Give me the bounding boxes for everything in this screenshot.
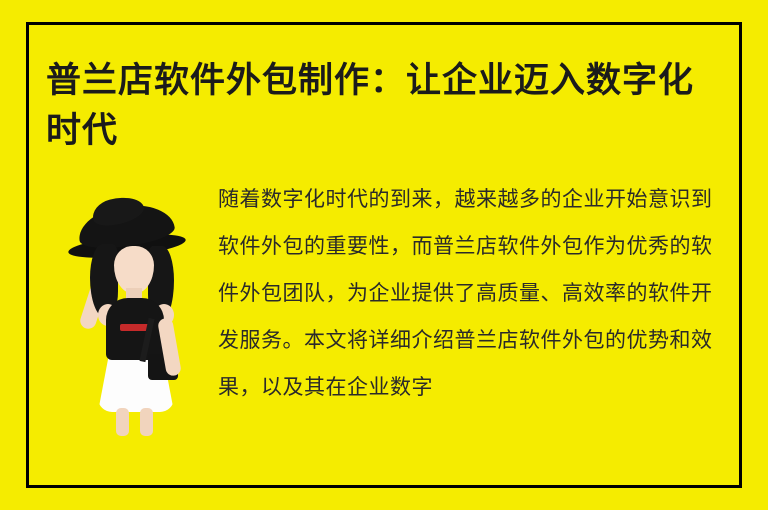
page-title: 普兰店软件外包制作：让企业迈入数字化时代	[46, 56, 726, 156]
illustration-leg-right	[140, 408, 153, 436]
poster-page: 普兰店软件外包制作：让企业迈入数字化时代 随着数字化时代的到来，越来越多的企业开…	[0, 0, 768, 510]
article-body: 随着数字化时代的到来，越来越多的企业开始意识到软件外包的重要性，而普兰店软件外包…	[218, 176, 726, 411]
fashion-girl-illustration	[62, 206, 222, 436]
illustration-leg-left	[116, 408, 129, 436]
